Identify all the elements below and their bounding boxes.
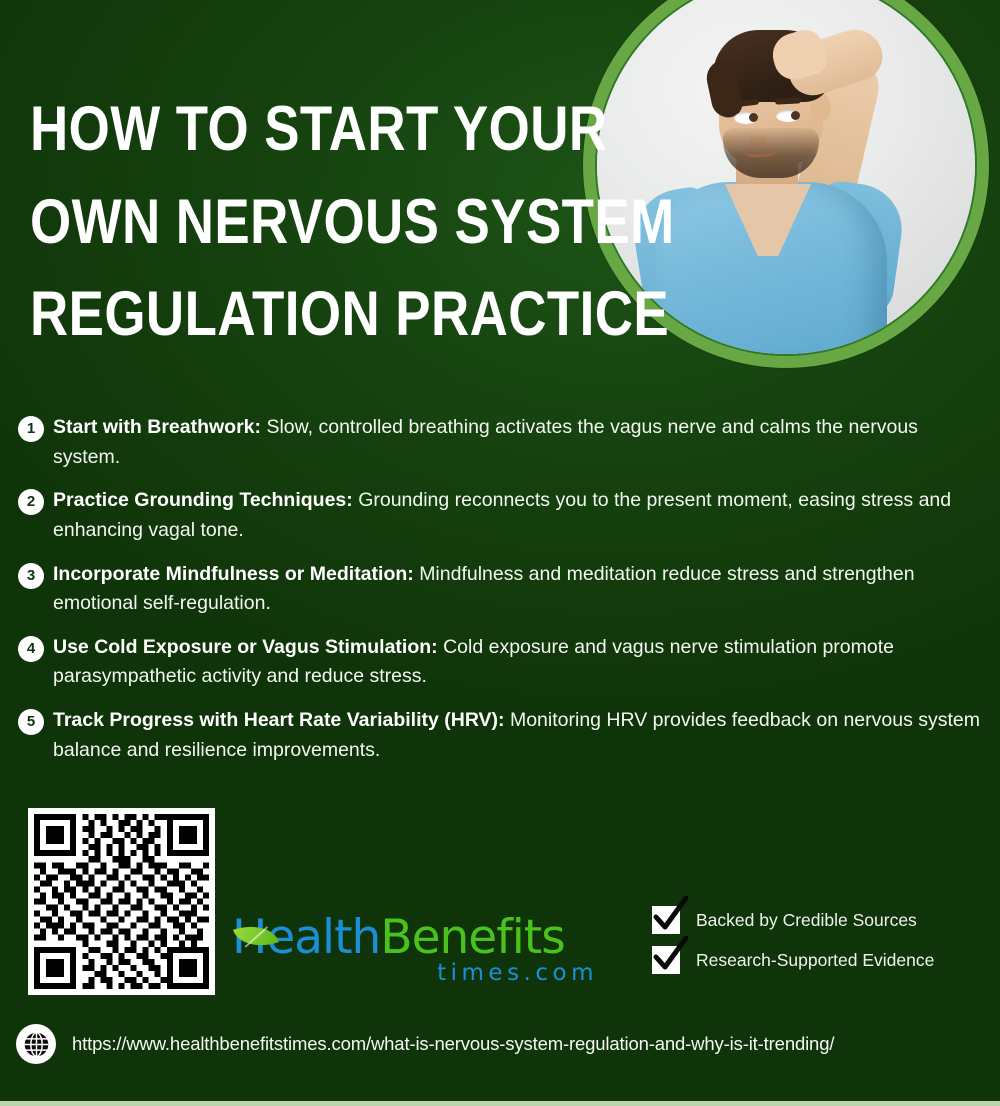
step-heading: Practice Grounding Techniques: <box>53 489 353 511</box>
step-number-badge: 5 <box>18 709 44 735</box>
title-line-1: HOW TO START YOUR <box>30 83 534 176</box>
step-heading: Use Cold Exposure or Vagus Stimulation: <box>53 636 438 658</box>
list-item: 1 Start with Breathwork: Slow, controlle… <box>18 413 983 472</box>
step-text: Practice Grounding Techniques: Grounding… <box>53 486 983 545</box>
list-item: 2 Practice Grounding Techniques: Groundi… <box>18 486 983 545</box>
infographic-canvas: HOW TO START YOUR OWN NERVOUS SYSTEM REG… <box>0 0 1000 1106</box>
page-title: HOW TO START YOUR OWN NERVOUS SYSTEM REG… <box>30 83 630 361</box>
qr-code[interactable] <box>28 808 215 995</box>
badge-label: Backed by Credible Sources <box>696 910 917 931</box>
logo-benefits-text: Benefits <box>380 910 564 965</box>
title-line-3: REGULATION PRACTICE <box>30 268 534 361</box>
qr-code-image <box>34 814 209 989</box>
step-heading: Track Progress with Heart Rate Variabili… <box>53 709 505 731</box>
step-number-badge: 4 <box>18 636 44 662</box>
list-item: 5 Track Progress with Heart Rate Variabi… <box>18 706 983 765</box>
steps-list: 1 Start with Breathwork: Slow, controlle… <box>18 413 983 779</box>
badge-row: Backed by Credible Sources <box>652 906 934 934</box>
step-heading: Start with Breathwork: <box>53 416 261 438</box>
globe-glyph <box>23 1031 50 1058</box>
checkbox-checked-icon <box>652 906 680 934</box>
check-mark-icon <box>651 895 691 935</box>
bottom-edge-strip <box>0 1101 1000 1106</box>
trust-badges: Backed by Credible Sources Research-Supp… <box>652 906 934 986</box>
logo-wordmark: HealthBenefits <box>232 912 602 964</box>
step-text: Start with Breathwork: Slow, controlled … <box>53 413 983 472</box>
footer-url-bar[interactable]: https://www.healthbenefitstimes.com/what… <box>16 1024 834 1064</box>
step-text: Track Progress with Heart Rate Variabili… <box>53 706 983 765</box>
globe-icon <box>16 1024 56 1064</box>
title-line-2: OWN NERVOUS SYSTEM <box>30 176 534 269</box>
url-text[interactable]: https://www.healthbenefitstimes.com/what… <box>72 1033 834 1055</box>
step-number-badge: 3 <box>18 563 44 589</box>
step-heading: Incorporate Mindfulness or Meditation: <box>53 563 414 585</box>
list-item: 3 Incorporate Mindfulness or Meditation:… <box>18 560 983 619</box>
badge-row: Research-Supported Evidence <box>652 946 934 974</box>
step-text: Incorporate Mindfulness or Meditation: M… <box>53 560 983 619</box>
step-number-badge: 1 <box>18 416 44 442</box>
list-item: 4 Use Cold Exposure or Vagus Stimulation… <box>18 633 983 692</box>
step-text: Use Cold Exposure or Vagus Stimulation: … <box>53 633 983 692</box>
site-logo[interactable]: HealthBenefits times.com <box>232 912 602 996</box>
check-mark-icon <box>651 935 691 975</box>
checkbox-checked-icon <box>652 946 680 974</box>
step-number-badge: 2 <box>18 489 44 515</box>
badge-label: Research-Supported Evidence <box>696 950 934 971</box>
